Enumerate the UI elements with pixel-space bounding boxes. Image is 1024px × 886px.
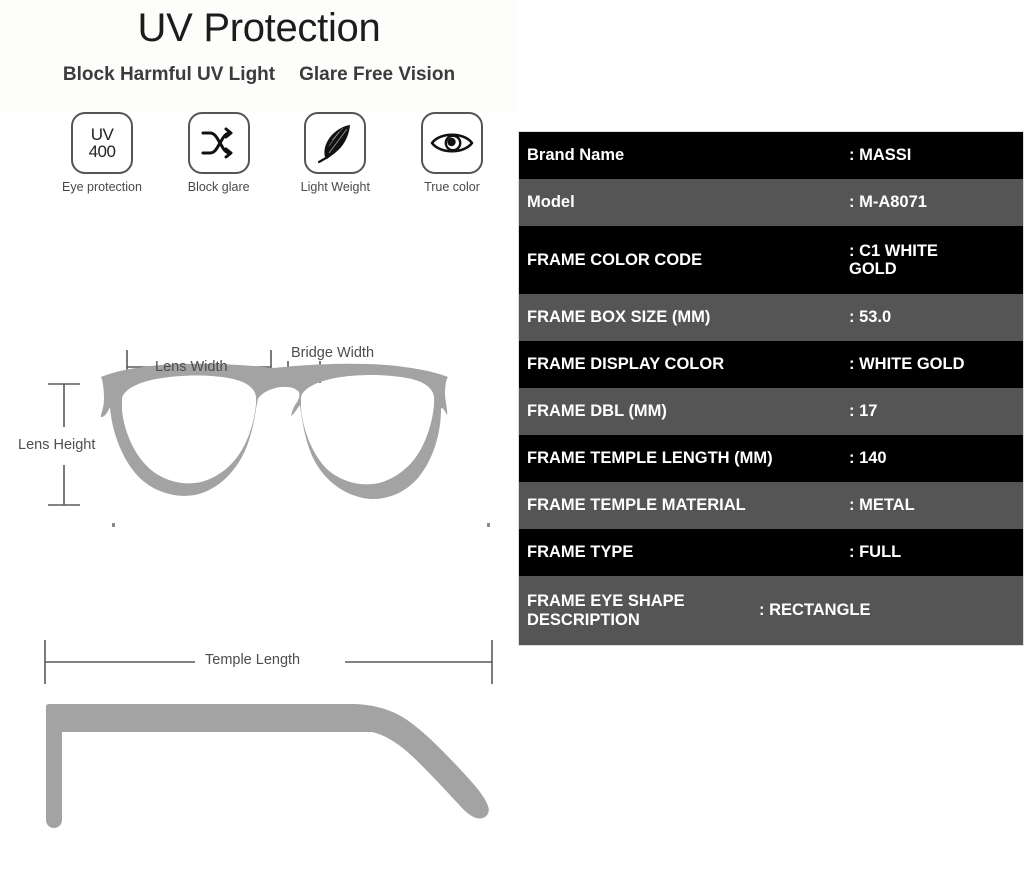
lens-height-label: Lens Height [18, 437, 95, 453]
uv400-line2: 400 [89, 143, 116, 160]
shuffle-arrows-icon [188, 112, 250, 174]
spec-value: : MASSI [849, 146, 1023, 164]
table-row: Model : M-A8071 [519, 179, 1023, 226]
table-row: FRAME TEMPLE MATERIAL : METAL [519, 482, 1023, 529]
spec-label: FRAME DBL (MM) [519, 402, 849, 420]
uv400-line1: UV [89, 126, 116, 143]
spec-label: FRAME DISPLAY COLOR [519, 355, 849, 373]
feature-badges: UV 400 Eye protection Block glare [52, 112, 502, 194]
uv-subtitle-1: Block Harmful UV Light [63, 64, 275, 86]
table-row: FRAME BOX SIZE (MM) : 53.0 [519, 294, 1023, 341]
product-info-panel: UV Protection Block Harmful UV Light Gla… [0, 0, 518, 886]
feature-block-glare: Block glare [169, 112, 269, 194]
feature-label-block-glare: Block glare [188, 180, 250, 194]
table-row: Brand Name : MASSI [519, 132, 1023, 179]
spec-label: Model [519, 193, 849, 211]
spec-value: : 140 [849, 449, 1023, 467]
spec-value: : FULL [849, 543, 1023, 561]
feature-label-light-weight: Light Weight [301, 180, 370, 194]
bridge-width-label: Bridge Width [291, 345, 374, 361]
spec-value: : METAL [849, 496, 1023, 514]
table-row: FRAME TEMPLE LENGTH (MM) : 140 [519, 435, 1023, 482]
spec-label: FRAME TEMPLE MATERIAL [519, 496, 849, 514]
spec-label: FRAME TEMPLE LENGTH (MM) [519, 449, 849, 467]
uv-subtitle-row: Block Harmful UV Light Glare Free Vision [0, 64, 518, 86]
uv400-icon: UV 400 [71, 112, 133, 174]
spec-label: FRAME BOX SIZE (MM) [519, 308, 849, 326]
product-spec-table: Brand Name : MASSI Model : M-A8071 FRAME… [518, 131, 1024, 646]
spec-value: : M-A8071 [849, 193, 1023, 211]
spec-value: : RECTANGLE [759, 601, 1023, 619]
hinge-dot-left [112, 523, 115, 527]
table-row: FRAME COLOR CODE : C1 WHITE GOLD [519, 226, 1023, 294]
feature-label-true-color: True color [424, 180, 480, 194]
spec-label: FRAME EYE SHAPE DESCRIPTION [519, 592, 759, 629]
table-row: FRAME EYE SHAPE DESCRIPTION : RECTANGLE [519, 576, 1023, 645]
table-row: FRAME DISPLAY COLOR : WHITE GOLD [519, 341, 1023, 388]
feather-icon [304, 112, 366, 174]
uv-subtitle-2: Glare Free Vision [299, 64, 455, 86]
spec-value: : C1 WHITE GOLD [849, 242, 969, 279]
frame-temple-diagram: Temple Length [0, 630, 518, 860]
spec-value: : 17 [849, 402, 1023, 420]
lens-width-label: Lens Width [155, 359, 228, 375]
feature-true-color: True color [402, 112, 502, 194]
hinge-dot-right [487, 523, 490, 527]
spec-label: Brand Name [519, 146, 849, 164]
temple-length-label: Temple Length [205, 652, 300, 668]
table-row: FRAME TYPE : FULL [519, 529, 1023, 576]
feature-light-weight: Light Weight [285, 112, 385, 194]
uv-protection-banner: UV Protection Block Harmful UV Light Gla… [0, 0, 518, 112]
eye-icon [421, 112, 483, 174]
spec-value: : WHITE GOLD [849, 355, 1023, 373]
eyeglass-frame-shape [101, 364, 448, 499]
spec-label: FRAME COLOR CODE [519, 251, 849, 269]
feature-label-eye-protection: Eye protection [62, 180, 142, 194]
spec-value: : 53.0 [849, 308, 1023, 326]
table-row: FRAME DBL (MM) : 17 [519, 388, 1023, 435]
frame-front-diagram: Lens Width Bridge Width Lens Height [0, 315, 518, 560]
spec-label: FRAME TYPE [519, 543, 849, 561]
page-title: UV Protection [0, 6, 518, 51]
temple-arm-shape [46, 704, 489, 828]
feature-eye-protection: UV 400 Eye protection [52, 112, 152, 194]
